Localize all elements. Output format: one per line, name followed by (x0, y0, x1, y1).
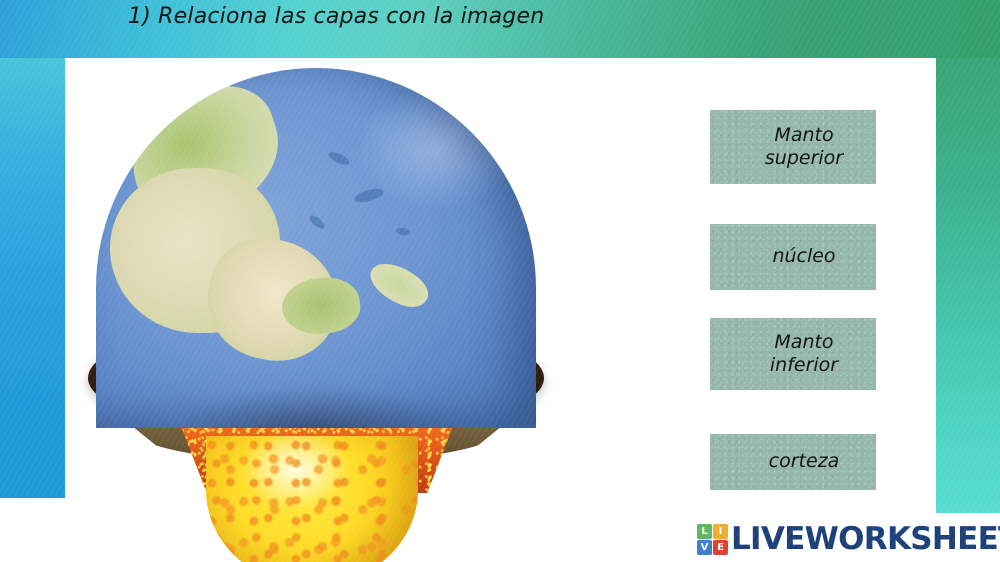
liveworksheets-mark-icon: L I V E (697, 524, 728, 555)
answer-label-nucleo[interactable]: núcleo (710, 224, 876, 290)
landmass-africa-north (110, 168, 280, 333)
answer-label-line2: superior (765, 147, 843, 170)
landmass-europe (115, 72, 295, 232)
earth-inner-core-layer (206, 436, 418, 562)
ocean-detail (327, 150, 351, 167)
liveworksheets-logo: L I V E LIVEWORKSHEETS (697, 521, 1000, 557)
logo-tile-e: E (713, 540, 728, 555)
landmass-island (364, 254, 434, 317)
answer-label-corteza[interactable]: corteza (710, 434, 876, 490)
landmass-central (278, 273, 363, 339)
page-title: 1) Relaciona las capas con la imagen (128, 4, 544, 29)
logo-tile-l: L (697, 524, 712, 539)
background-band-right (936, 58, 1000, 513)
earth-layers-diagram (88, 68, 558, 518)
answer-label-manto-inferior[interactable]: Manto inferior (710, 318, 876, 390)
answer-label-line1: Manto (770, 331, 838, 354)
ocean-detail (353, 186, 385, 205)
answer-label-line2: inferior (770, 354, 838, 377)
landmass-arabia (197, 228, 349, 372)
inner-core-texture (206, 436, 418, 562)
logo-wordmark: LIVEWORKSHEETS (731, 521, 1000, 557)
ocean-detail (395, 227, 410, 236)
background-band-left (0, 58, 65, 498)
logo-tile-i: I (713, 524, 728, 539)
answer-label-line1: corteza (769, 450, 840, 473)
answer-label-line1: núcleo (772, 245, 835, 268)
logo-tile-v: V (697, 540, 712, 555)
ocean-detail (308, 213, 327, 231)
landmass-north (143, 107, 261, 214)
answer-label-manto-superior[interactable]: Manto superior (710, 110, 876, 184)
answer-label-line1: Manto (765, 124, 843, 147)
earth-surface-hemisphere (96, 68, 536, 428)
worksheet-page: 1) Relaciona las capas con la imagen (0, 0, 1000, 562)
